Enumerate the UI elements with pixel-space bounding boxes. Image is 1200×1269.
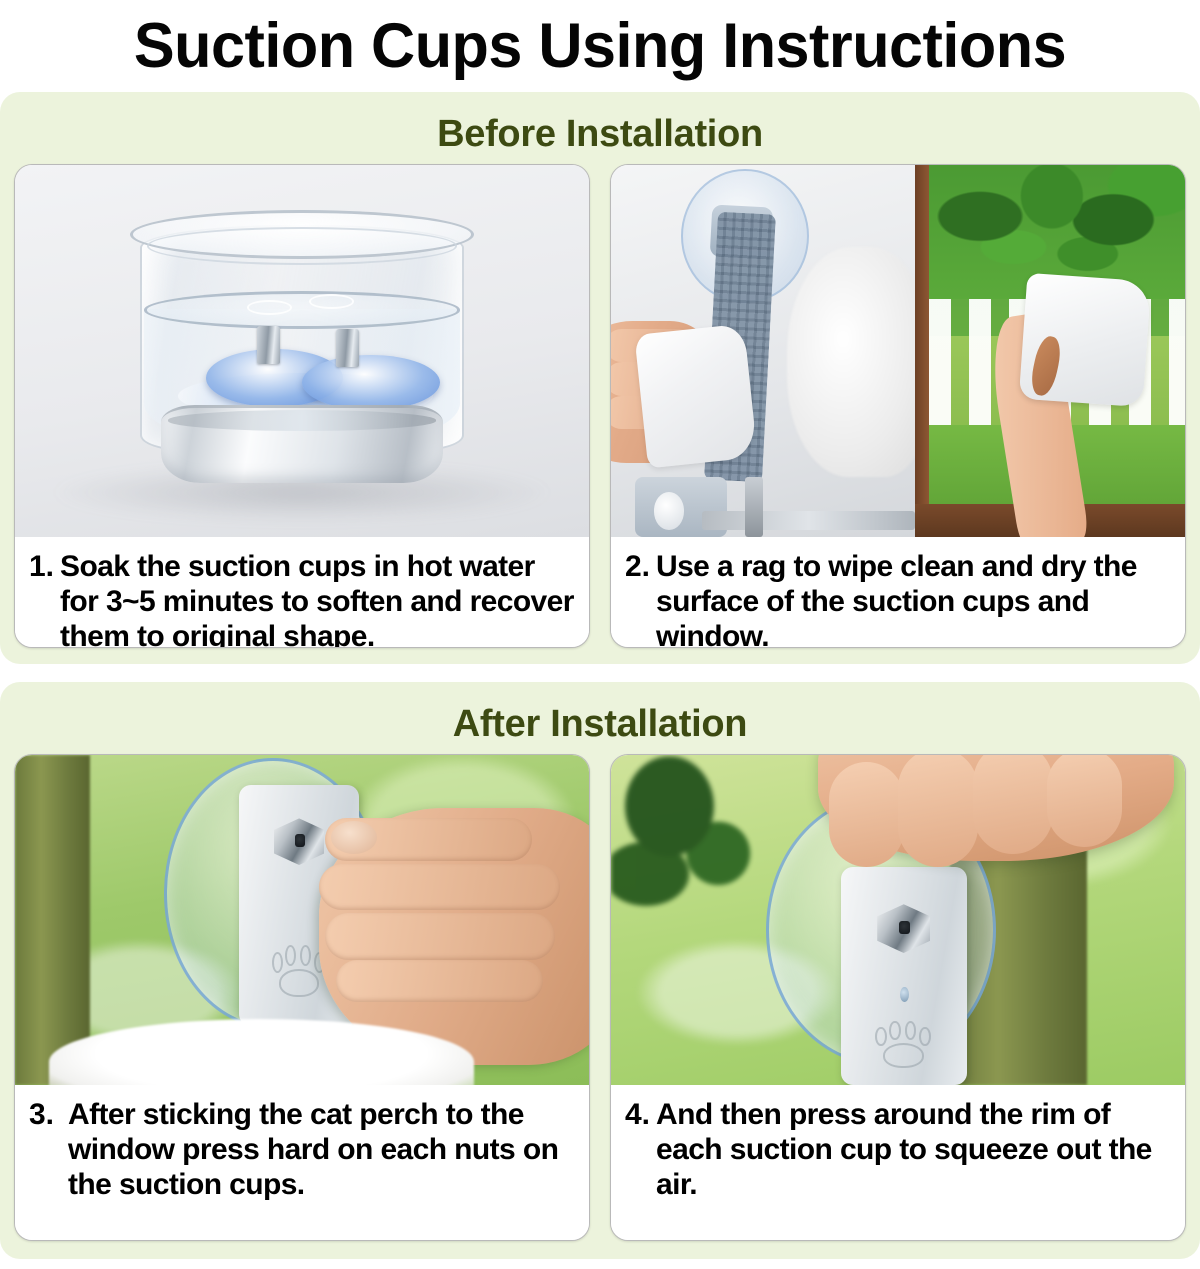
step-2-photo-wiping — [611, 165, 1185, 537]
step-3-text: After sticking the cat perch to the wind… — [54, 1097, 575, 1202]
tree-trunk — [15, 755, 90, 1085]
step-4-photo-press-rim — [611, 755, 1185, 1085]
hand-finger-2 — [319, 864, 560, 910]
section-heading-after: After Installation — [0, 682, 1200, 754]
step-1-photo-bowl-soaking — [15, 165, 589, 537]
step-card-4: 4. And then press around the rim of each… — [610, 754, 1186, 1241]
hand-finger-3 — [973, 755, 1053, 854]
step-4-text: And then press around the rim of each su… — [650, 1097, 1171, 1202]
step-4-number: 4. — [625, 1097, 650, 1132]
hex-nut — [877, 904, 930, 953]
step-1-number: 1. — [29, 549, 54, 584]
perch-knob — [654, 492, 684, 529]
section-before-installation: Before Installation — [0, 92, 1200, 664]
card-row-before: 1. Soak the suction cups in hot water fo… — [0, 164, 1200, 648]
water-ripple-right — [309, 294, 354, 309]
hand-finger-1 — [829, 762, 904, 868]
paw-toe-4 — [919, 1027, 931, 1046]
bowl-inner-rim — [147, 227, 457, 265]
screw-dimple — [900, 987, 909, 1002]
zipper-pull — [745, 477, 763, 537]
paw-toe-1 — [272, 952, 283, 973]
step-card-3: 3. After sticking the cat perch to the w… — [14, 754, 590, 1241]
fingernail — [331, 821, 377, 854]
hand-finger-2 — [898, 755, 978, 867]
paw-toe-3 — [300, 945, 311, 966]
chrome-base-band — [168, 410, 437, 430]
cleaning-cloth-left — [635, 323, 758, 468]
water-ripple-left — [247, 300, 292, 315]
nut-hole — [295, 834, 305, 847]
paw-pad — [279, 969, 318, 997]
step-2-photo-right-wipe-window — [915, 165, 1185, 537]
step-card-1: 1. Soak the suction cups in hot water fo… — [14, 164, 590, 648]
hand-finger-4 — [336, 960, 543, 1003]
step-3-number: 3. — [29, 1097, 54, 1132]
section-heading-before: Before Installation — [0, 92, 1200, 164]
glass-bowl — [130, 198, 474, 488]
hex-nut — [274, 818, 325, 865]
section-after-installation: After Installation — [0, 682, 1200, 1259]
page-title: Suction Cups Using Instructions — [18, 0, 1182, 92]
paw-toe-3 — [905, 1021, 917, 1040]
paw-print-emboss — [873, 1020, 934, 1068]
water-surface-line — [144, 291, 461, 329]
step-1-caption: 1. Soak the suction cups in hot water fo… — [15, 537, 589, 648]
step-2-caption: 2. Use a rag to wipe clean and dry the s… — [611, 537, 1185, 648]
step-card-2: 2. Use a rag to wipe clean and dry the s… — [610, 164, 1186, 648]
paw-pad — [883, 1043, 924, 1068]
window-rail — [702, 511, 915, 530]
step-4-caption: 4. And then press around the rim of each… — [611, 1085, 1185, 1240]
metal-bolt-left — [257, 326, 279, 364]
card-row-after: 3. After sticking the cat perch to the w… — [0, 754, 1200, 1241]
hand-finger-4 — [1047, 755, 1122, 847]
perch-bracket — [841, 867, 967, 1085]
instruction-infographic: Suction Cups Using Instructions Before I… — [0, 0, 1200, 1269]
step-2-number: 2. — [625, 549, 650, 584]
paw-toe-1 — [875, 1027, 887, 1046]
step-3-photo-press-nut — [15, 755, 589, 1085]
step-3-caption: 3. After sticking the cat perch to the w… — [15, 1085, 589, 1240]
window-frame-left — [915, 165, 928, 537]
step-2-photo-left-wipe-cup — [611, 165, 915, 537]
paw-toe-2 — [285, 945, 296, 966]
paw-toe-2 — [889, 1021, 901, 1040]
metal-bolt-right — [336, 329, 358, 367]
step-2-text: Use a rag to wipe clean and dry the surf… — [650, 549, 1171, 648]
suction-cup-right — [302, 355, 440, 410]
step-1-text: Soak the suction cups in hot water for 3… — [54, 549, 575, 648]
nut-hole — [899, 921, 910, 935]
hand-finger-3 — [325, 913, 555, 959]
cat-bed-cushion — [787, 247, 915, 478]
